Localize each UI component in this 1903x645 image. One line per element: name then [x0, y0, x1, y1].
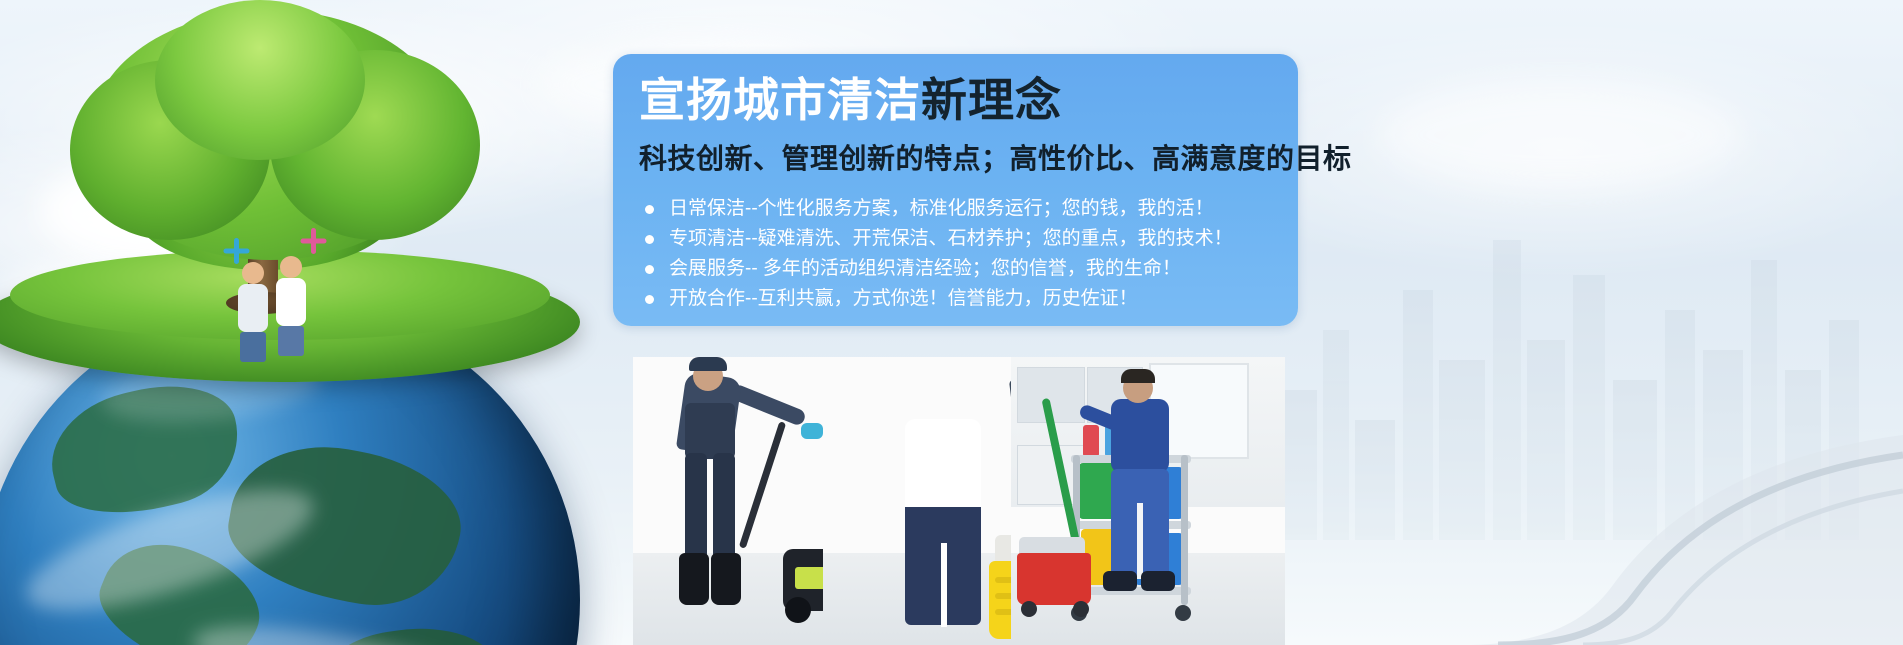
bullet-dot-icon [645, 295, 654, 304]
highway-illustration [1283, 395, 1903, 645]
list-item-label: 会展服务-- 多年的活动组织清洁经验；您的信誉，我的生命！ [669, 258, 1181, 279]
earth-tree-illustration [0, 0, 600, 645]
feature-list: 日常保洁--个性化服务方案，标准化服务运行；您的钱，我的活！ 专项清洁--疑难清… [643, 194, 1343, 314]
bullet-dot-icon [645, 235, 654, 244]
list-item-label: 开放合作--互利共赢，方式你选！信誉能力，历史佐证！ [669, 288, 1138, 309]
headline-highlight: 宣扬城市清洁 [639, 74, 921, 126]
photo-worker-mopping-kitchen [1011, 357, 1285, 645]
tree-canopy [155, 0, 365, 160]
message-card: 宣扬城市清洁新理念 科技创新、管理创新的特点；高性价比、高满意度的目标 日常保洁… [613, 54, 1298, 326]
list-item-label: 专项清洁--疑难清洗、开荒保洁、石材养护；您的重点，我的技术！ [669, 228, 1233, 249]
child-figure [238, 262, 268, 645]
pinwheel-icon [300, 228, 326, 254]
list-item-label: 日常保洁--个性化服务方案，标准化服务运行；您的钱，我的活！ [669, 198, 1214, 219]
photo-strip [633, 357, 1285, 645]
list-item: 专项清洁--疑难清洗、开荒保洁、石材养护；您的重点，我的技术！ [643, 224, 1343, 254]
bullet-dot-icon [645, 205, 654, 214]
list-item: 日常保洁--个性化服务方案，标准化服务运行；您的钱，我的活！ [643, 194, 1343, 224]
headline-rest: 新理念 [921, 74, 1062, 126]
list-item: 开放合作--互利共赢，方式你选！信誉能力，历史佐证！ [643, 284, 1343, 314]
subtitle: 科技创新、管理创新的特点；高性价比、高满意度的目标 [639, 142, 1352, 176]
page-title: 宣扬城市清洁新理念 [639, 74, 1062, 127]
promo-banner: 宣扬城市清洁新理念 科技创新、管理创新的特点；高性价比、高满意度的目标 日常保洁… [0, 0, 1903, 645]
child-figure [276, 256, 306, 645]
pinwheel-icon [223, 238, 249, 264]
list-item: 会展服务-- 多年的活动组织清洁经验；您的信誉，我的生命！ [643, 254, 1343, 284]
bullet-dot-icon [645, 265, 654, 274]
